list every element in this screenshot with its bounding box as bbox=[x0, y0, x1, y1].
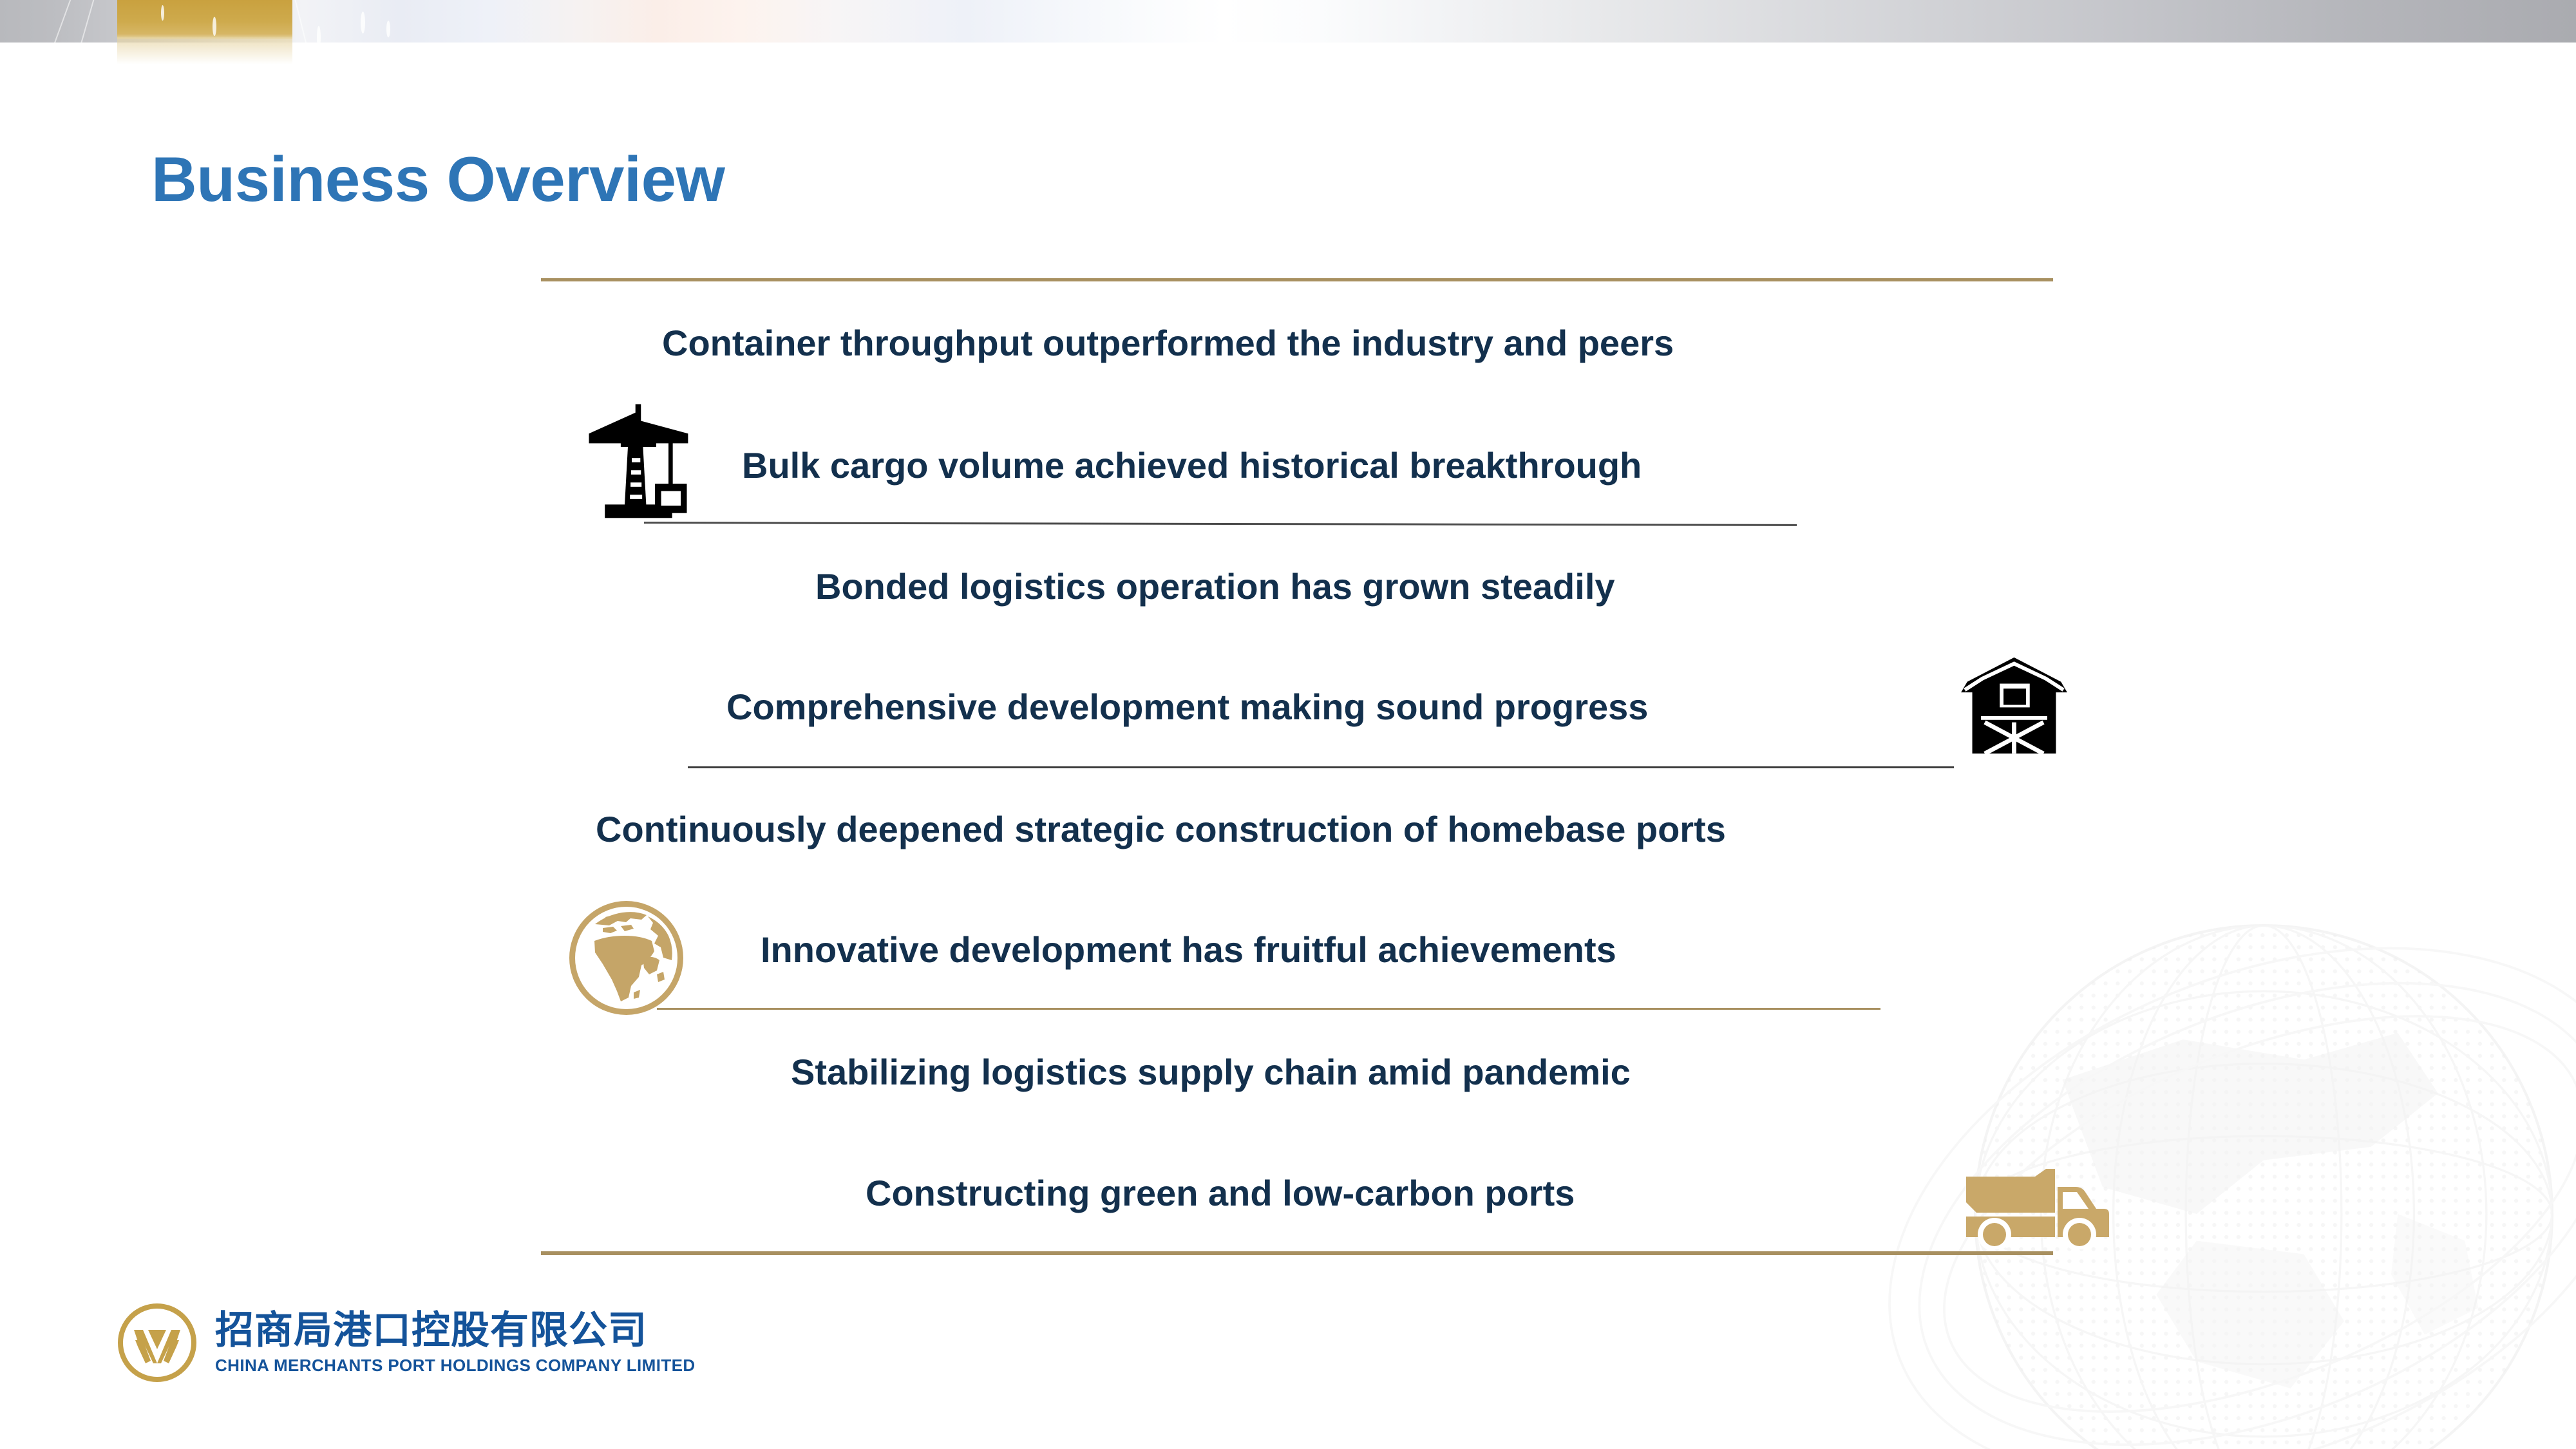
globe-icon bbox=[567, 898, 686, 1018]
bullet-line-3: Bonded logistics operation has grown ste… bbox=[815, 565, 1615, 607]
banner-streak-decoration bbox=[361, 12, 365, 33]
logo-text-block: 招商局港口控股有限公司 CHINA MERCHANTS PORT HOLDING… bbox=[215, 1311, 696, 1376]
banner-gold-fade-decoration bbox=[117, 37, 292, 64]
barn-icon bbox=[1961, 654, 2067, 757]
divider-second bbox=[644, 522, 1797, 526]
banner-streak-decoration bbox=[386, 21, 390, 37]
page-title: Business Overview bbox=[151, 143, 724, 216]
logo-mark-icon bbox=[116, 1302, 198, 1384]
banner-streak-decoration bbox=[317, 26, 321, 49]
company-logo: 招商局港口控股有限公司 CHINA MERCHANTS PORT HOLDING… bbox=[116, 1294, 696, 1391]
bullet-line-6: Innovative development has fruitful achi… bbox=[761, 929, 1616, 971]
divider-bottom bbox=[541, 1251, 2053, 1255]
bullet-line-5: Continuously deepened strategic construc… bbox=[596, 808, 1726, 850]
truck-icon bbox=[1955, 1162, 2119, 1249]
banner-streak-decoration bbox=[161, 5, 164, 21]
divider-fourth bbox=[657, 1008, 1880, 1010]
top-banner bbox=[0, 0, 2576, 43]
bullet-line-2: Bulk cargo volume achieved historical br… bbox=[742, 444, 1642, 486]
logo-english-name: CHINA MERCHANTS PORT HOLDINGS COMPANY LI… bbox=[215, 1356, 696, 1376]
bullet-line-1: Container throughput outperformed the in… bbox=[662, 322, 1674, 364]
crane-icon bbox=[583, 399, 705, 522]
divider-top bbox=[541, 278, 2053, 281]
banner-streak-decoration bbox=[213, 17, 216, 36]
logo-chinese-name: 招商局港口控股有限公司 bbox=[215, 1311, 696, 1351]
divider-third bbox=[688, 766, 1954, 768]
bullet-line-8: Constructing green and low-carbon ports bbox=[866, 1172, 1575, 1214]
bullet-line-4: Comprehensive development making sound p… bbox=[726, 686, 1648, 728]
globe-watermark-icon bbox=[1861, 811, 2576, 1449]
bullet-line-7: Stabilizing logistics supply chain amid … bbox=[791, 1051, 1631, 1093]
slide-canvas: Business Overview bbox=[0, 0, 2576, 1449]
